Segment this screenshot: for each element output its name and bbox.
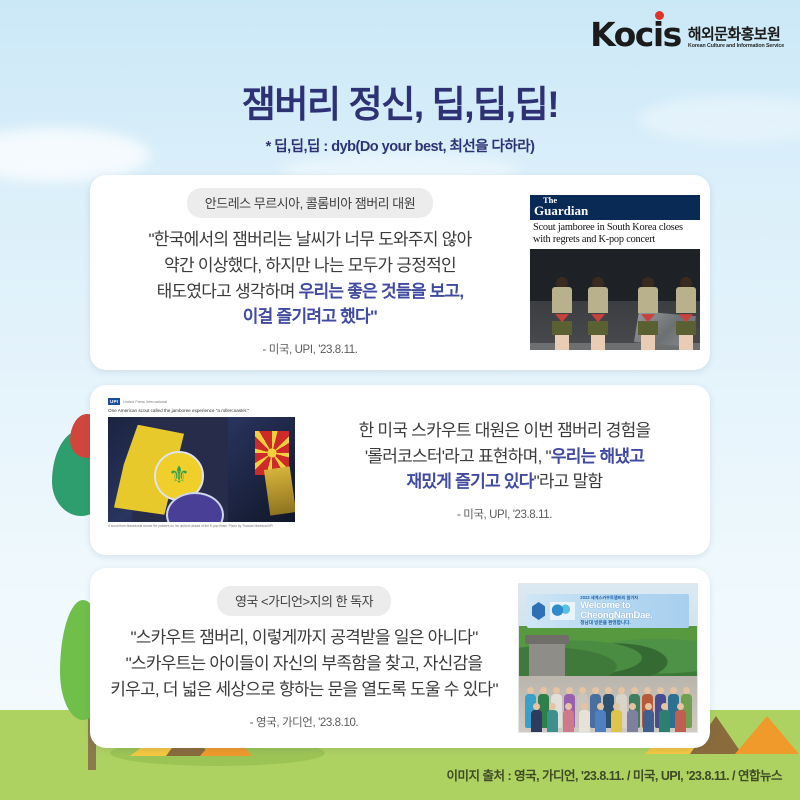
scout-figure-decoration (588, 277, 608, 350)
quote-card-inner: UPI United Press International One Ameri… (90, 385, 710, 555)
quote-card: 안드레스 무르시아, 콜롬비아 잼버리 대원 "한국에서의 잼버리는 날씨가 너… (90, 175, 710, 370)
quote-card-inner: 영국 <가디언>지의 한 독자 "스카우트 잼버리, 이렇게까지 공격받을 일은… (90, 568, 710, 748)
quote-segment-highlight: 이걸 즐기려고 했다 (243, 307, 370, 326)
upi-article-thumbnail[interactable]: UPI United Press International One Ameri… (104, 395, 299, 545)
quote-segment: 태도였다고 생각하며 (157, 282, 299, 301)
upi-org-name: United Press International (123, 400, 167, 404)
cheongnamdae-photo-thumbnail[interactable]: 2023 세계스카우트잼버리 참가자 Welcome to CheongNamD… (518, 583, 698, 733)
person-figure (611, 710, 622, 733)
person-figure (627, 710, 638, 733)
person-figure (547, 710, 558, 733)
quote-source: - 영국, 가디언, '23.8.10. (250, 714, 358, 730)
page-title: 잼버리 정신, 딥,딥,딥! (0, 84, 800, 125)
kocis-name-korean: 해외문화홍보원 (688, 27, 782, 43)
kocis-wordmark: Kocis (590, 18, 681, 51)
quote-text-column: 안드레스 무르시아, 콜롬비아 잼버리 대원 "한국에서의 잼버리는 날씨가 너… (90, 188, 530, 357)
quote-segment: "스카우트 잼버리, 이렇게까지 공격받을 일은 아니다" (130, 628, 477, 647)
quote-source: - 미국, UPI, '23.8.11. (262, 341, 357, 357)
emblem-icon (532, 602, 545, 620)
banner-title: Welcome to CheongNamDae. (580, 601, 684, 621)
gold-braid-decoration (264, 466, 295, 515)
banner-korean: 청남대 방문을 환영합니다. (580, 621, 684, 626)
status-badge: 안드레스 무르시아, 콜롬비아 잼버리 대원 (187, 188, 433, 218)
tent-right-flap-decoration (735, 716, 799, 754)
quote-card-inner: 안드레스 무르시아, 콜롬비아 잼버리 대원 "한국에서의 잼버리는 날씨가 너… (90, 175, 710, 370)
quote-text: 한 미국 스카우트 대원은 이번 잼버리 경험을 '롤러코스터'라고 표현하며,… (359, 418, 651, 495)
guardian-masthead: The Guardian (530, 195, 700, 220)
guardian-name-text: Guardian (534, 203, 588, 218)
upi-headline: One American scout called the jamboree e… (104, 406, 299, 417)
scout-figure-decoration (552, 277, 572, 350)
quote-text-column: 한 미국 스카우트 대원은 이번 잼버리 경험을 '롤러코스터'라고 표현하며,… (299, 418, 710, 522)
banner-text-block: 2023 세계스카우트잼버리 참가자 Welcome to CheongNamD… (580, 596, 684, 625)
quote-line: 한 미국 스카우트 대원은 이번 잼버리 경험을 (359, 418, 651, 444)
guardian-headline: Scout jamboree in South Korea closes wit… (530, 220, 700, 249)
quote-line: 약간 이상했다, 하지만 나는 모두가 긍정적인 (149, 253, 472, 279)
welcome-banner: 2023 세계스카우트잼버리 참가자 Welcome to CheongNamD… (527, 594, 689, 628)
quote-card: UPI United Press International One Ameri… (90, 385, 710, 555)
kocis-name-block: 해외문화홍보원 Korean Culture and Information S… (688, 27, 782, 51)
person-figure (579, 710, 590, 733)
kocis-wordmark-text: Kocis (590, 18, 681, 51)
quote-text: "한국에서의 잼버리는 날씨가 너무 도와주지 않아 약간 이상했다, 하지만 … (149, 227, 472, 330)
person-figure (659, 710, 670, 733)
quote-source: - 미국, UPI, '23.8.11. (457, 506, 552, 522)
quote-segment: '롤러코스터'라고 표현하며, " (365, 447, 551, 466)
quote-line: 이걸 즐기려고 했다" (149, 304, 472, 330)
fleur-de-lis-icon: ⚜ (168, 464, 190, 488)
infographic-card: Kocis 해외문화홍보원 Korean Culture and Informa… (0, 0, 800, 800)
group-photo-crowd (521, 664, 695, 728)
quote-card: 영국 <가디언>지의 한 독자 "스카우트 잼버리, 이렇게까지 공격받을 일은… (90, 568, 710, 748)
guardian-article-thumbnail[interactable]: The Guardian Scout jamboree in South Kor… (530, 195, 700, 350)
quote-line: 태도였다고 생각하며 우리는 좋은 것들을 보고, (149, 279, 472, 305)
quote-line: 재밌게 즐기고 있다"라고 말함 (359, 469, 651, 495)
quote-line: 키우고, 더 넓은 세상으로 향하는 문을 열도록 도울 수 있다" (110, 677, 498, 703)
quote-line: '롤러코스터'라고 표현하며, "우리는 해냈고 (359, 444, 651, 470)
person-figure (531, 710, 542, 733)
jamboree-logo-icon (550, 602, 575, 620)
person-figure (675, 710, 686, 733)
kocis-dot-icon (655, 11, 664, 20)
upi-masthead: UPI United Press International (104, 395, 299, 406)
quote-segment-highlight: 재밌게 즐기고 있다 (407, 472, 534, 491)
kocis-logo: Kocis 해외문화홍보원 Korean Culture and Informa… (590, 18, 782, 51)
scout-figure-decoration (676, 277, 696, 350)
guardian-photo (530, 249, 700, 350)
person-figure (643, 710, 654, 733)
person-figure (595, 710, 606, 733)
quote-segment: " (370, 307, 377, 326)
upi-photo-caption: A scout from Macedonia shows the patches… (104, 522, 299, 532)
quote-segment: 약간 이상했다, 하지만 나는 모두가 긍정적인 (164, 256, 456, 275)
quote-line: "스카우트는 아이들이 자신의 부족함을 찾고, 자신감을 (110, 651, 498, 677)
kocis-name-english: Korean Culture and Information Service (688, 44, 784, 49)
quote-text-column: 영국 <가디언>지의 한 독자 "스카우트 잼버리, 이렇게까지 공격받을 일은… (90, 586, 518, 729)
quote-segment: "라고 말함 (534, 472, 603, 491)
status-badge: 영국 <가디언>지의 한 독자 (217, 586, 391, 616)
upi-logo: UPI (108, 398, 120, 405)
quote-text: "스카우트 잼버리, 이렇게까지 공격받을 일은 아니다" "스카우트는 아이들… (110, 625, 498, 702)
quote-segment-highlight: 우리는 해냈고 (551, 447, 644, 466)
image-source-credit: 이미지 출처 : 영국, 가디언, '23.8.11. / 미국, UPI, '… (447, 765, 782, 784)
quote-line: "스카우트 잼버리, 이렇게까지 공격받을 일은 아니다" (110, 625, 498, 651)
quote-segment-highlight: "스카우트는 아이들이 자신의 부족함을 찾고, 자신감을 (126, 654, 483, 673)
cheongnamdae-photo: 2023 세계스카우트잼버리 참가자 Welcome to CheongNamD… (518, 583, 698, 733)
person-figure (563, 710, 574, 733)
quote-segment: 한 미국 스카우트 대원은 이번 잼버리 경험을 (359, 421, 651, 440)
quote-segment-highlight: 우리는 좋은 것들을 보고, (299, 282, 464, 301)
scout-figure-decoration (638, 277, 658, 350)
quote-line: "한국에서의 잼버리는 날씨가 너무 도와주지 않아 (149, 227, 472, 253)
quote-segment: "한국에서의 잼버리는 날씨가 너무 도와주지 않아 (149, 230, 472, 249)
quote-segment-highlight: 키우고, 더 넓은 세상으로 향하는 문을 열도록 도울 수 있다" (110, 680, 498, 699)
page-subtitle: * 딥,딥,딥 : dyb(Do your best, 최선을 다하라) (0, 135, 800, 156)
upi-photo: ⚜ (108, 417, 295, 522)
